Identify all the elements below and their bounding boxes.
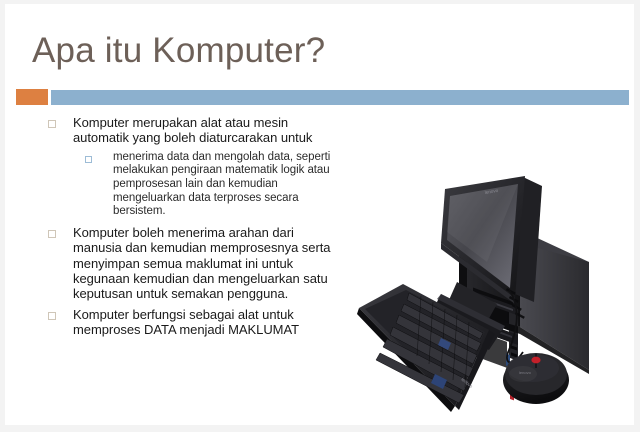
- mouse-scroll-accent: [531, 357, 540, 364]
- list-item: Komputer berfungsi sebagai alat untuk me…: [43, 307, 343, 338]
- bullet-square-icon: [48, 120, 56, 128]
- content-body: Komputer merupakan alat atau mesin autom…: [43, 115, 343, 343]
- list-item: Komputer merupakan alat atau mesin autom…: [43, 115, 343, 146]
- list-item: Komputer boleh menerima arahan dari manu…: [43, 225, 343, 302]
- bullet-square-icon: [48, 230, 56, 238]
- list-item-label: Komputer boleh menerima arahan dari manu…: [73, 225, 343, 302]
- list-item-label: Komputer merupakan alat atau mesin autom…: [73, 115, 343, 146]
- list-item-label: menerima data dan mengolah data, seperti…: [113, 151, 343, 219]
- list-item-label: Komputer berfungsi sebagai alat untuk me…: [73, 307, 343, 338]
- svg-text:lenovo: lenovo: [519, 370, 532, 375]
- list-item: menerima data dan mengolah data, seperti…: [79, 151, 343, 219]
- accent-bar-orange: [16, 89, 48, 105]
- bullet-square-icon: [48, 312, 56, 320]
- accent-bar-blue: [51, 90, 629, 105]
- mouse: lenovo: [503, 353, 569, 404]
- bullet-square-icon: [85, 156, 92, 163]
- slide-canvas: Apa itu Komputer? Komputer merupakan ala…: [5, 4, 634, 425]
- desktop-computer-photo: lenovo: [337, 112, 629, 420]
- slide-frame: Apa itu Komputer? Komputer merupakan ala…: [0, 0, 640, 432]
- page-title: Apa itu Komputer?: [32, 30, 552, 72]
